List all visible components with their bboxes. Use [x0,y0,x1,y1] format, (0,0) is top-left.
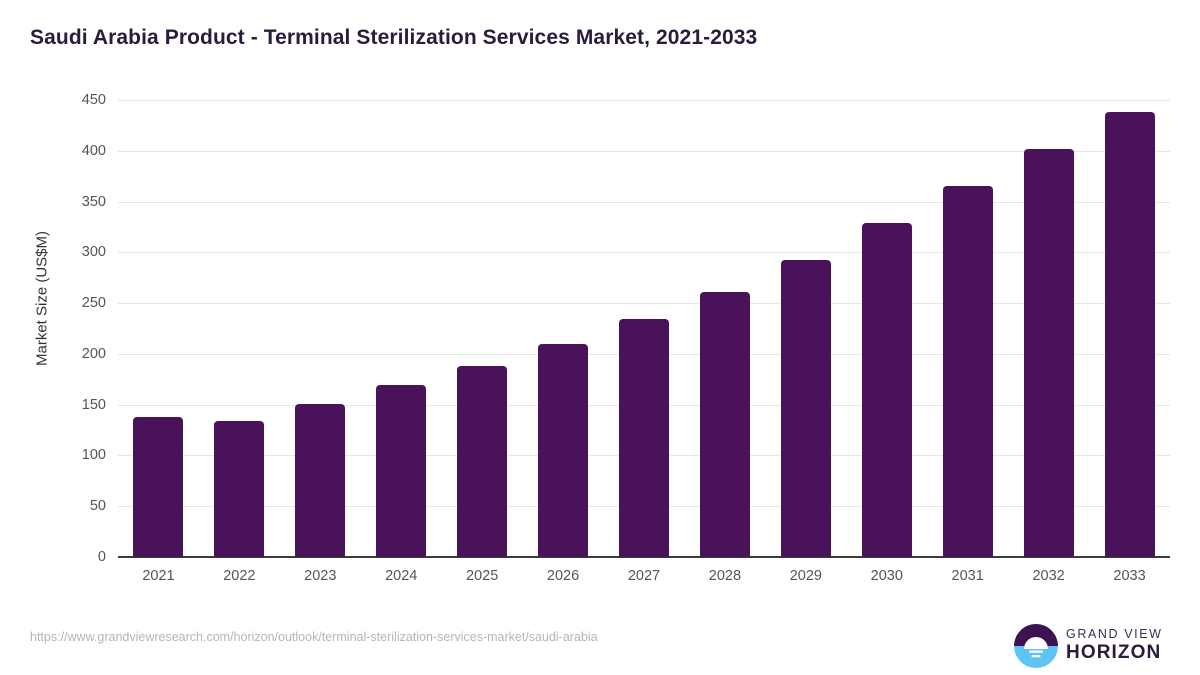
bar-2033[interactable] [1105,112,1155,557]
x-axis-labels: 2021202220232024202520262027202820292030… [118,568,1170,598]
x-axis-tick-label: 2033 [1088,568,1172,584]
x-axis-tick-label: 2027 [602,568,686,584]
grand-view-horizon-logo[interactable]: GRAND VIEW HORIZON [1014,624,1174,670]
bar-2025[interactable] [457,366,507,557]
bar-2022[interactable] [214,421,264,557]
logo-line-horizon: HORIZON [1066,642,1163,663]
bar-2027[interactable] [619,319,669,557]
bar-2024[interactable] [376,385,426,557]
y-axis-tick-label: 100 [46,447,106,463]
bar-2032[interactable] [1024,149,1074,557]
x-axis-tick-label: 2022 [197,568,281,584]
logo-line-grand-view: GRAND VIEW [1066,627,1163,642]
y-axis-tick-label: 400 [46,143,106,159]
x-axis-tick-label: 2030 [845,568,929,584]
y-axis-tick-label: 250 [46,295,106,311]
logo-text: GRAND VIEW HORIZON [1066,627,1163,663]
y-axis-tick-label: 350 [46,194,106,210]
x-axis-tick-label: 2031 [926,568,1010,584]
x-axis-tick-label: 2028 [683,568,767,584]
x-axis-tick-label: 2023 [278,568,362,584]
bar-2023[interactable] [295,404,345,557]
x-axis-tick-label: 2029 [764,568,848,584]
source-url[interactable]: https://www.grandviewresearch.com/horizo… [30,630,598,644]
x-axis-tick-label: 2024 [359,568,443,584]
x-axis-tick-label: 2026 [521,568,605,584]
y-axis-tick-label: 0 [46,549,106,565]
y-axis-tick-label: 450 [46,92,106,108]
y-axis-tick-label: 200 [46,346,106,362]
bar-2031[interactable] [943,186,993,557]
chart-plot-area: Market Size (US$M) 050100150200250300350… [0,0,1200,675]
bars-layer [118,100,1170,557]
x-axis-tick-label: 2025 [440,568,524,584]
bar-2021[interactable] [133,417,183,557]
bar-2029[interactable] [781,260,831,557]
x-axis-tick-label: 2032 [1007,568,1091,584]
y-axis-tick-label: 150 [46,397,106,413]
y-axis-tick-label: 50 [46,498,106,514]
x-axis-tick-label: 2021 [116,568,200,584]
bar-2030[interactable] [862,223,912,557]
logo-mark-icon [1014,624,1058,668]
bar-2026[interactable] [538,344,588,557]
y-axis-tick-label: 300 [46,244,106,260]
bar-2028[interactable] [700,292,750,557]
chart-page: Saudi Arabia Product - Terminal Steriliz… [0,0,1200,675]
